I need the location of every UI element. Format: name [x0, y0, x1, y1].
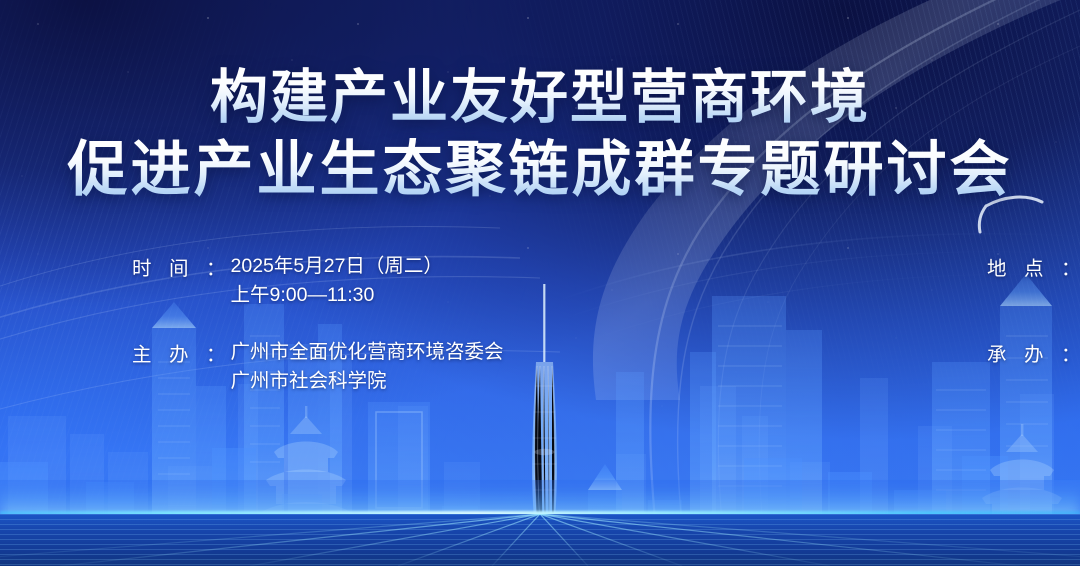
ground-perspective-rays — [0, 514, 1080, 566]
info-value-organizer-2: 广州市社会科学院 — [231, 367, 504, 396]
event-info: 时 间 ： 2025年5月27日（周二） 上午9:00—11:30 地 点 ： … — [0, 252, 1080, 396]
info-label-time: 时 间 — [132, 252, 206, 281]
poster-canvas: 构建产业友好型营商环境 促进产业生态聚链成群专题研讨会 时 间 ： 2025年5… — [0, 0, 1080, 566]
title-line-2: 促进产业生态聚链成群专题研讨会 — [0, 134, 1080, 206]
info-row-organizer: 主 办 ： 广州市全面优化营商环境咨委会 广州市社会科学院 — [132, 338, 552, 396]
info-label-organizer: 主 办 — [132, 338, 206, 367]
perspective-grid-ground — [0, 514, 1080, 566]
title-line-1: 构建产业友好型营商环境 — [0, 62, 1080, 134]
info-label-venue: 地 点 — [987, 252, 1061, 281]
info-value-time-2: 上午9:00—11:30 — [231, 281, 443, 310]
info-row-co-organizer: 承 办 ： 广州市社会科学院人事处（外事处） 广州市社会科学院现代产业研究所 — [552, 338, 1080, 396]
info-values-organizer: 广州市全面优化营商环境咨委会 广州市社会科学院 — [231, 338, 504, 396]
info-value-time-1: 2025年5月27日（周二） — [231, 252, 443, 281]
info-row-time: 时 间 ： 2025年5月27日（周二） 上午9:00—11:30 — [132, 252, 552, 310]
info-colon-venue: ： — [1061, 252, 1080, 281]
info-row-venue: 地 点 ： 广州市社会科学院九楼学术报告厅 （广州市白云区云城街润云路119号） — [552, 252, 1080, 310]
info-values-time: 2025年5月27日（周二） 上午9:00—11:30 — [231, 252, 443, 310]
info-label-co-organizer: 承 办 — [987, 338, 1061, 367]
info-colon-organizer: ： — [206, 338, 226, 367]
poster-title: 构建产业友好型营商环境 促进产业生态聚链成群专题研讨会 — [0, 62, 1080, 206]
info-colon-co-organizer: ： — [1061, 338, 1080, 367]
info-colon-time: ： — [206, 252, 226, 281]
info-value-organizer-1: 广州市全面优化营商环境咨委会 — [231, 338, 504, 367]
